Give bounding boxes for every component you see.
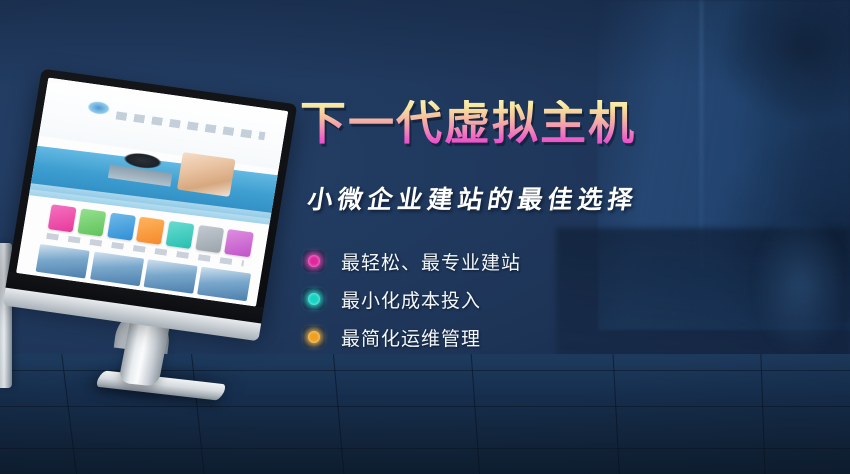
feature-label: 最小化成本投入: [341, 286, 481, 313]
feature-label: 最轻松、最专业建站: [341, 248, 521, 275]
feature-label: 最简化运维管理: [341, 324, 481, 351]
feature-item: 最轻松、最专业建站: [303, 248, 521, 274]
bullet-dot-icon: [303, 288, 325, 310]
feature-list: 最轻松、最专业建站 最小化成本投入 最简化运维管理: [303, 248, 521, 350]
banner-content: 下一代虚拟主机 小微企业建站的最佳选择 最轻松、最专业建站 最小化成本投入 最简…: [0, 0, 850, 474]
feature-item: 最简化运维管理: [303, 324, 521, 350]
bullet-dot-icon: [303, 326, 325, 348]
bullet-dot-icon: [303, 250, 325, 272]
banner-stage: 下一代虚拟主机 小微企业建站的最佳选择 最轻松、最专业建站 最小化成本投入 最简…: [0, 0, 850, 474]
banner-headline: 下一代虚拟主机: [300, 100, 636, 146]
banner-subheadline: 小微企业建站的最佳选择: [305, 180, 641, 216]
feature-item: 最小化成本投入: [303, 286, 521, 312]
